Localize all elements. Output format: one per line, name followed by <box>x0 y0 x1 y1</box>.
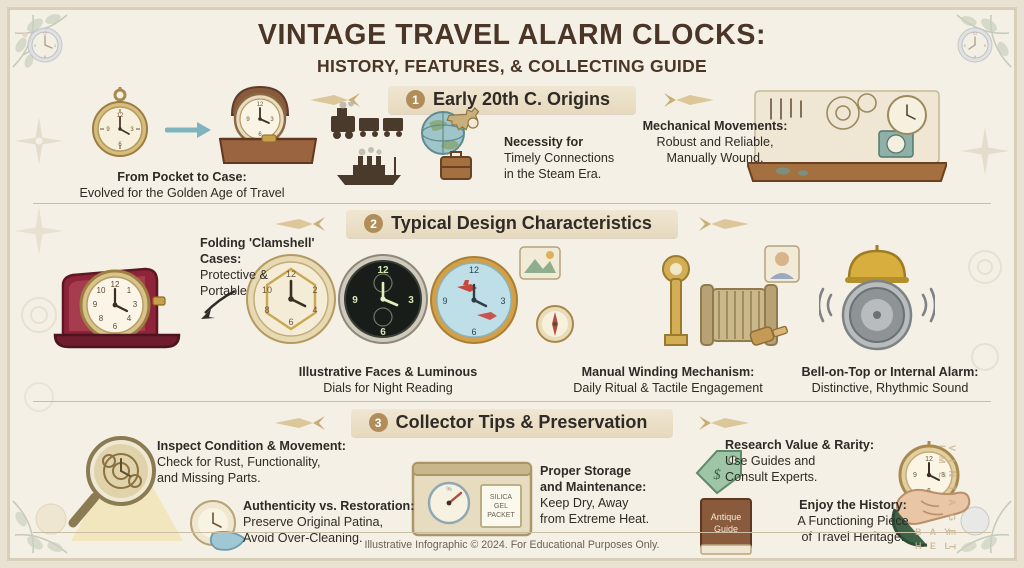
red-clamshell-case-illustration: 1213 468 910 <box>49 239 209 354</box>
svg-text:6: 6 <box>113 322 118 331</box>
caption-line: Preserve Original Patina, <box>243 515 449 531</box>
svg-text:12: 12 <box>111 280 120 289</box>
svg-text:3: 3 <box>500 296 505 306</box>
travel-clock-in-case-illustration: 123 69 <box>212 79 322 171</box>
footer-divider <box>33 532 991 533</box>
caption-heading: Research Value & Rarity: <box>725 438 905 454</box>
caption-line: Dials for Night Reading <box>279 381 497 397</box>
dollar-sign-glyph: $ <box>713 467 721 483</box>
caption-line: Consult Experts. <box>725 470 905 486</box>
small-key-fob-icon <box>747 319 791 351</box>
caption-line: Robust and Reliable, <box>615 135 815 151</box>
caption-manual-winding: Manual Winding Mechanism: Daily Ritual &… <box>555 365 781 397</box>
caption-heading: Authenticity vs. Restoration: <box>243 499 449 515</box>
caption-bell-on-top: Bell-on-Top or Internal Alarm: Distincti… <box>777 365 1003 397</box>
svg-text:12: 12 <box>257 102 264 108</box>
caption-clamshell-cases: Folding 'Clamshell' Cases: Protective & … <box>200 236 350 299</box>
section-2-banner-pill: 2 Typical Design Characteristics <box>346 210 678 238</box>
caption-heading: Bell-on-Top or Internal Alarm: <box>777 365 1003 381</box>
svg-text:%: % <box>446 487 452 493</box>
svg-text:3: 3 <box>133 300 138 309</box>
illustrative-airplane-dial-illustration: 123 69 <box>429 255 519 345</box>
svg-text:9: 9 <box>352 295 358 306</box>
svg-text:4: 4 <box>127 314 132 323</box>
section-2-title: Typical Design Characteristics <box>391 213 652 234</box>
header: VINTAGE TRAVEL ALARM CLOCKS: HISTORY, FE… <box>7 19 1017 77</box>
section-3-title: Collector Tips & Preservation <box>396 412 648 433</box>
caption-line: Evolved for the Golden Age of Travel <box>67 186 297 202</box>
steam-train-icon <box>327 102 409 142</box>
flourish-left-icon <box>273 414 327 432</box>
svg-text:4: 4 <box>312 305 317 315</box>
caption-line: Use Guides and <box>725 454 905 470</box>
svg-text:9: 9 <box>913 472 917 479</box>
caption-line: Keep Dry, Away <box>540 496 680 512</box>
svg-text:10: 10 <box>97 286 106 295</box>
caption-heading: From Pocket to Case: <box>67 170 297 186</box>
svg-text:6: 6 <box>380 327 386 338</box>
flourish-right-icon <box>697 215 751 233</box>
svg-text:9: 9 <box>93 300 98 309</box>
svg-text:1: 1 <box>127 286 132 295</box>
svg-text:12: 12 <box>925 456 933 463</box>
divider-2 <box>33 401 991 402</box>
silica-label-line3: PACKET <box>487 512 515 519</box>
caption-mechanical-movements: Mechanical Movements: Robust and Reliabl… <box>615 119 815 167</box>
caption-heading: Proper Storage <box>540 464 680 480</box>
caption-line: Portable <box>200 284 350 300</box>
caption-heading: Folding 'Clamshell' Cases: <box>200 236 350 268</box>
caption-line: Check for Rust, Functionality, <box>157 455 367 471</box>
caption-line: in the Steam Era. <box>504 167 634 183</box>
page-title: VINTAGE TRAVEL ALARM CLOCKS: <box>7 19 1017 52</box>
silica-label-line2: GEL <box>494 503 508 510</box>
svg-text:8: 8 <box>264 305 269 315</box>
svg-text:9: 9 <box>442 296 447 306</box>
flourish-right-icon <box>662 91 716 109</box>
caption-heading: Mechanical Movements: <box>615 119 815 135</box>
footer-text: Illustrative Infographic © 2024. For Edu… <box>7 539 1017 551</box>
flourish-left-icon <box>273 215 327 233</box>
caption-heading: Illustrative Faces & Luminous <box>279 365 497 381</box>
caption-line: Manually Wound. <box>615 151 815 167</box>
caption-heading: Manual Winding Mechanism: <box>555 365 781 381</box>
caption-illustrative-faces: Illustrative Faces & Luminous Dials for … <box>279 365 497 397</box>
caption-proper-storage: Proper Storage and Maintenance: Keep Dry… <box>540 464 680 527</box>
caption-research-value: Research Value & Rarity: Use Guides and … <box>725 438 905 486</box>
section-3-banner-pill: 3 Collector Tips & Preservation <box>351 409 674 437</box>
caption-line: Daily Ritual & Tactile Engagement <box>555 381 781 397</box>
section-2-number: 2 <box>364 214 383 233</box>
silica-label-line1: SILICA <box>490 494 513 501</box>
caption-inspect-condition: Inspect Condition & Movement: Check for … <box>157 439 367 487</box>
globe-gear-suitcase-illustration <box>417 107 491 183</box>
scenic-dial-card-icon <box>517 243 563 283</box>
infographic-canvas: 123 69 123 69 <box>0 0 1024 568</box>
caption-line: A Functioning Piece <box>764 514 942 530</box>
svg-text:12: 12 <box>469 265 479 275</box>
ocean-liner-icon <box>331 147 407 189</box>
svg-text:12: 12 <box>377 265 389 276</box>
divider-1 <box>33 203 991 204</box>
book-label-line1: Antique <box>711 512 742 522</box>
caption-heading-2: and Maintenance: <box>540 480 680 496</box>
caption-heading: Inspect Condition & Movement: <box>157 439 367 455</box>
caption-line: and Missing Parts. <box>157 471 367 487</box>
caption-line: from Extreme Heat. <box>540 512 680 528</box>
page-subtitle: HISTORY, FEATURES, & COLLECTING GUIDE <box>7 56 1017 77</box>
caption-line: Protective & <box>200 268 350 284</box>
section-2-banner: 2 Typical Design Characteristics <box>7 210 1017 238</box>
bell-on-top-alarm-clock-illustration <box>819 243 935 355</box>
evolution-arrow-icon <box>165 119 213 141</box>
svg-text:3: 3 <box>408 295 414 306</box>
svg-text:6: 6 <box>288 317 293 327</box>
flourish-right-icon <box>697 414 751 432</box>
caption-heading: Enjoy the History: <box>764 498 942 514</box>
caption-pocket-to-case: From Pocket to Case: Evolved for the Gol… <box>67 170 297 202</box>
caption-line: Distinctive, Rhythmic Sound <box>777 381 1003 397</box>
svg-text:8: 8 <box>99 314 104 323</box>
section-3-number: 3 <box>369 413 388 432</box>
compass-icon <box>534 303 576 345</box>
luminous-black-dial-illustration: 123 69 <box>337 253 429 345</box>
svg-text:6: 6 <box>471 327 476 337</box>
pocket-watch-illustration: 123 69 <box>85 85 155 163</box>
